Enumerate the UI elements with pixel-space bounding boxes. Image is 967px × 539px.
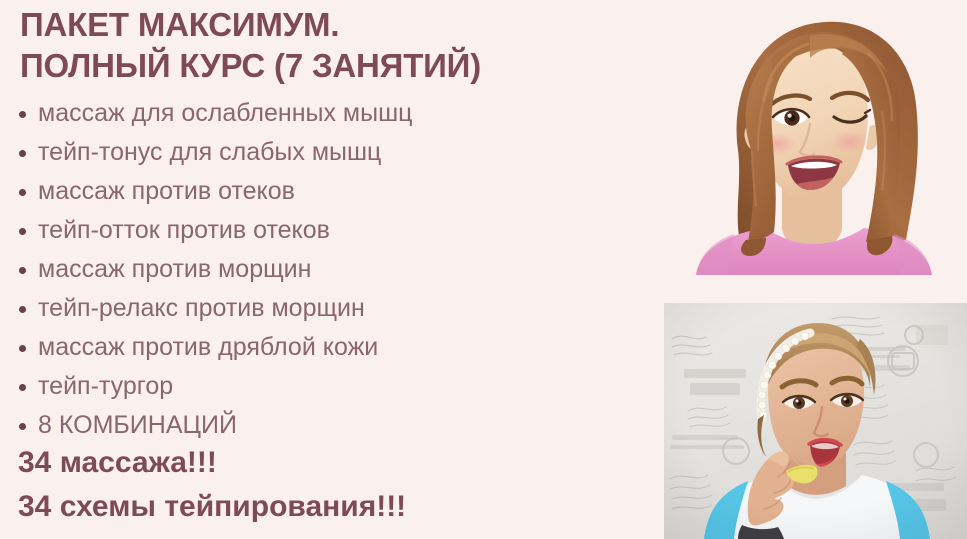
bullet-dot-icon [19, 345, 26, 352]
list-item: массаж против дряблой кожи [14, 328, 654, 367]
list-item-label: массаж против отеков [38, 177, 295, 205]
list-item-label: массаж против морщин [38, 255, 311, 283]
bullet-dot-icon [19, 189, 26, 196]
list-item-label: тейп-релакс против морщин [38, 294, 365, 322]
list-item: массаж для ослабленных мышц [14, 94, 654, 133]
webcam-video-feed[interactable] [664, 303, 967, 539]
course-contents-list: массаж для ослабленных мышц тейп-тонус д… [14, 94, 654, 445]
list-item-label: тейп-тонус для слабых мышц [38, 138, 381, 166]
slide-title-line-2: ПОЛНЫЙ КУРС (7 ЗАНЯТИЙ) [20, 45, 640, 86]
bullet-dot-icon [19, 228, 26, 235]
list-item: массаж против морщин [14, 250, 654, 289]
list-item-label: массаж для ослабленных мышц [38, 99, 412, 127]
winking-woman-illustration [660, 0, 967, 275]
bullet-dot-icon [19, 111, 26, 118]
bullet-dot-icon [19, 150, 26, 157]
slide-title-line-1: ПАКЕТ МАКСИМУМ. [20, 4, 640, 45]
list-item: массаж против отеков [14, 172, 654, 211]
slide-text-column: ПАКЕТ МАКСИМУМ. ПОЛНЫЙ КУРС (7 ЗАНЯТИЙ) … [0, 0, 660, 539]
emphasis-line-massages: 34 массажа!!! [18, 441, 658, 485]
bullet-dot-icon [19, 423, 26, 430]
slide-title: ПАКЕТ МАКСИМУМ. ПОЛНЫЙ КУРС (7 ЗАНЯТИЙ) [20, 4, 640, 86]
slide-emphasis: 34 массажа!!! 34 схемы тейпирования!!! [18, 441, 658, 529]
list-item-label: массаж против дряблой кожи [38, 333, 378, 361]
bullet-dot-icon [19, 384, 26, 391]
bullet-dot-icon [19, 306, 26, 313]
list-item: тейп-отток против отеков [14, 211, 654, 250]
emphasis-line-taping-schemes: 34 схемы тейпирования!!! [18, 485, 658, 529]
bullet-dot-icon [19, 267, 26, 274]
list-item-label: тейп-отток против отеков [38, 216, 330, 244]
list-item: тейп-тонус для слабых мышц [14, 133, 654, 172]
list-item: 8 КОМБИНАЦИЙ [14, 406, 654, 445]
list-item-label: тейп-тургор [38, 372, 173, 400]
presentation-slide-screen: ПАКЕТ МАКСИМУМ. ПОЛНЫЙ КУРС (7 ЗАНЯТИЙ) … [0, 0, 967, 539]
list-item: тейп-тургор [14, 367, 654, 406]
list-item: тейп-релакс против морщин [14, 289, 654, 328]
list-item-label: 8 КОМБИНАЦИЙ [38, 411, 237, 439]
